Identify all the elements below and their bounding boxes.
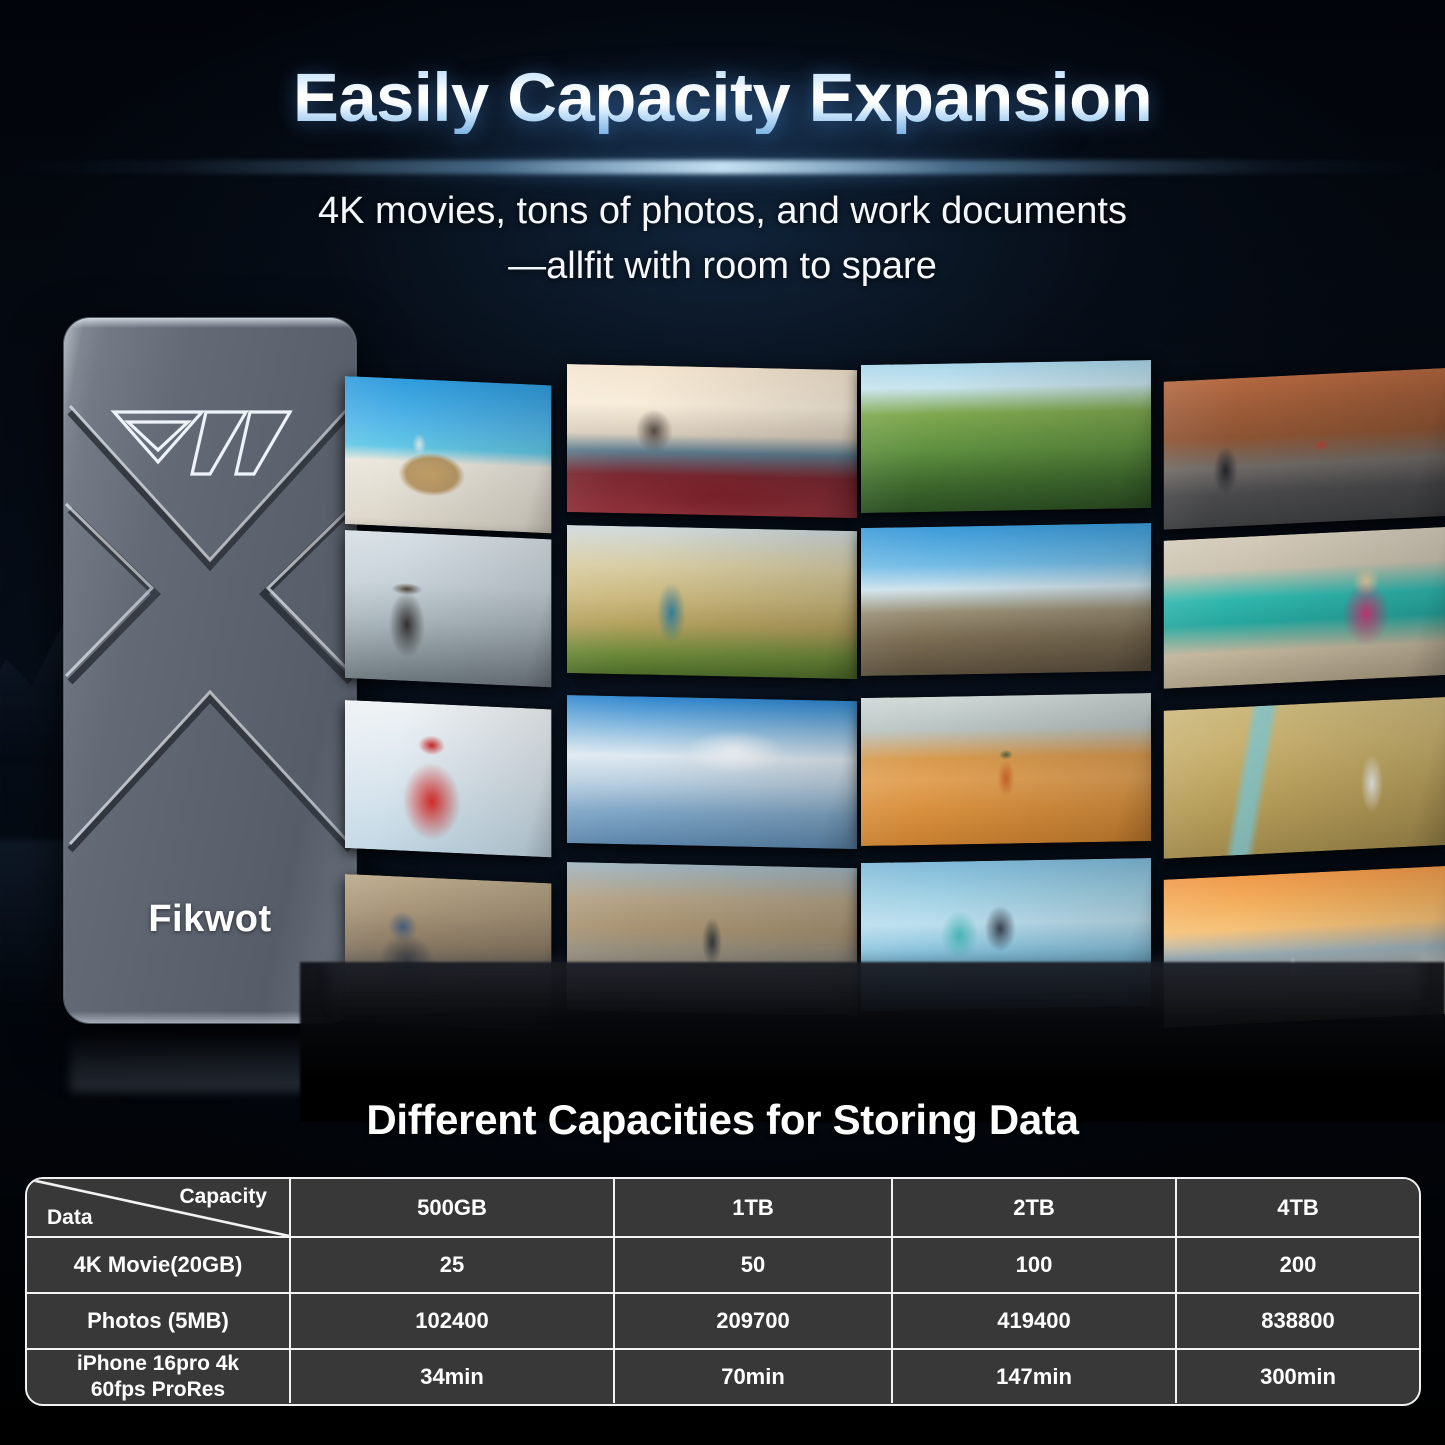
capacity-table: Capacity Data 500GB 1TB 2TB 4TB 4K Movie… bbox=[25, 1177, 1421, 1406]
table-corner-capacity-label: Capacity bbox=[179, 1185, 267, 1209]
subtitle-line-1: 4K movies, tons of photos, and work docu… bbox=[0, 184, 1445, 239]
photo-panel-sheen bbox=[861, 523, 1151, 676]
table-cell-photos-1tb: 209700 bbox=[613, 1294, 891, 1348]
iphone-label-line-2: 60fps ProRes bbox=[77, 1377, 239, 1403]
table-cell-4kmovie-500gb: 25 bbox=[289, 1238, 613, 1292]
iphone-label-line-1: iPhone 16pro 4k bbox=[77, 1351, 239, 1377]
photo-panel-sheen bbox=[345, 530, 551, 687]
photo-panel bbox=[345, 376, 551, 533]
photo-wall bbox=[345, 340, 1445, 1020]
table-row-label-4k-movie: 4K Movie(20GB) bbox=[27, 1238, 289, 1292]
table-cell-photos-2tb: 419400 bbox=[891, 1294, 1175, 1348]
table-corner-cell: Capacity Data bbox=[27, 1179, 289, 1236]
photo-panel-sheen bbox=[1164, 697, 1445, 859]
table-cell-4kmovie-2tb: 100 bbox=[891, 1238, 1175, 1292]
photo-panel bbox=[1164, 368, 1445, 530]
page-subtitle: 4K movies, tons of photos, and work docu… bbox=[0, 184, 1445, 294]
ssd-device: Fikwot bbox=[64, 318, 356, 1023]
table-column-header-500gb: 500GB bbox=[289, 1179, 613, 1236]
photo-panel-sheen bbox=[567, 695, 857, 849]
device-x-pattern bbox=[64, 398, 356, 958]
photo-panel bbox=[567, 364, 857, 518]
table-cell-iphone-4tb: 300min bbox=[1175, 1350, 1419, 1403]
table-column-header-2tb: 2TB bbox=[891, 1179, 1175, 1236]
lens-flare-streak bbox=[0, 160, 1445, 174]
table-cell-4kmovie-1tb: 50 bbox=[613, 1238, 891, 1292]
table-cell-iphone-500gb: 34min bbox=[289, 1350, 613, 1403]
table-header-row: Capacity Data 500GB 1TB 2TB 4TB bbox=[27, 1179, 1419, 1236]
photo-panel bbox=[345, 700, 551, 857]
section-title: Different Capacities for Storing Data bbox=[0, 1096, 1445, 1144]
table-row-label-iphone-prores: iPhone 16pro 4k 60fps ProRes bbox=[27, 1350, 289, 1403]
photo-panel bbox=[861, 523, 1151, 676]
photo-panel bbox=[1164, 697, 1445, 859]
floor-sheen bbox=[330, 958, 1420, 1018]
photo-panel-sheen bbox=[861, 693, 1151, 846]
page-title: Easily Capacity Expansion bbox=[0, 62, 1445, 134]
device-brand-wordmark: Fikwot bbox=[64, 898, 356, 941]
subtitle-line-2: —allfit with room to spare bbox=[0, 239, 1445, 294]
photo-panel bbox=[567, 525, 857, 679]
photo-panel-sheen bbox=[345, 700, 551, 857]
photo-panel-sheen bbox=[345, 376, 551, 533]
photo-panel-sheen bbox=[567, 525, 857, 679]
fikwot-chevron-logo-icon bbox=[110, 406, 310, 480]
photo-panel-sheen bbox=[567, 364, 857, 518]
photo-panel-sheen bbox=[861, 360, 1151, 513]
table-cell-photos-4tb: 838800 bbox=[1175, 1294, 1419, 1348]
photo-panel bbox=[861, 360, 1151, 513]
table-row: iPhone 16pro 4k 60fps ProRes 34min 70min… bbox=[27, 1348, 1419, 1403]
table-cell-iphone-1tb: 70min bbox=[613, 1350, 891, 1403]
table-column-header-1tb: 1TB bbox=[613, 1179, 891, 1236]
table-row: Photos (5MB) 102400 209700 419400 838800 bbox=[27, 1292, 1419, 1348]
table-cell-iphone-2tb: 147min bbox=[891, 1350, 1175, 1403]
photo-panel bbox=[567, 695, 857, 849]
table-corner-data-label: Data bbox=[47, 1206, 93, 1230]
table-row: 4K Movie(20GB) 25 50 100 200 bbox=[27, 1236, 1419, 1292]
photo-panel bbox=[1164, 527, 1445, 689]
photo-panel-sheen bbox=[1164, 368, 1445, 530]
table-cell-4kmovie-4tb: 200 bbox=[1175, 1238, 1419, 1292]
device-top-edge bbox=[64, 318, 356, 328]
photo-panel-sheen bbox=[1164, 527, 1445, 689]
table-cell-photos-500gb: 102400 bbox=[289, 1294, 613, 1348]
photo-panel bbox=[861, 693, 1151, 846]
table-row-label-photos: Photos (5MB) bbox=[27, 1294, 289, 1348]
table-column-header-4tb: 4TB bbox=[1175, 1179, 1419, 1236]
photo-panel bbox=[345, 530, 551, 687]
